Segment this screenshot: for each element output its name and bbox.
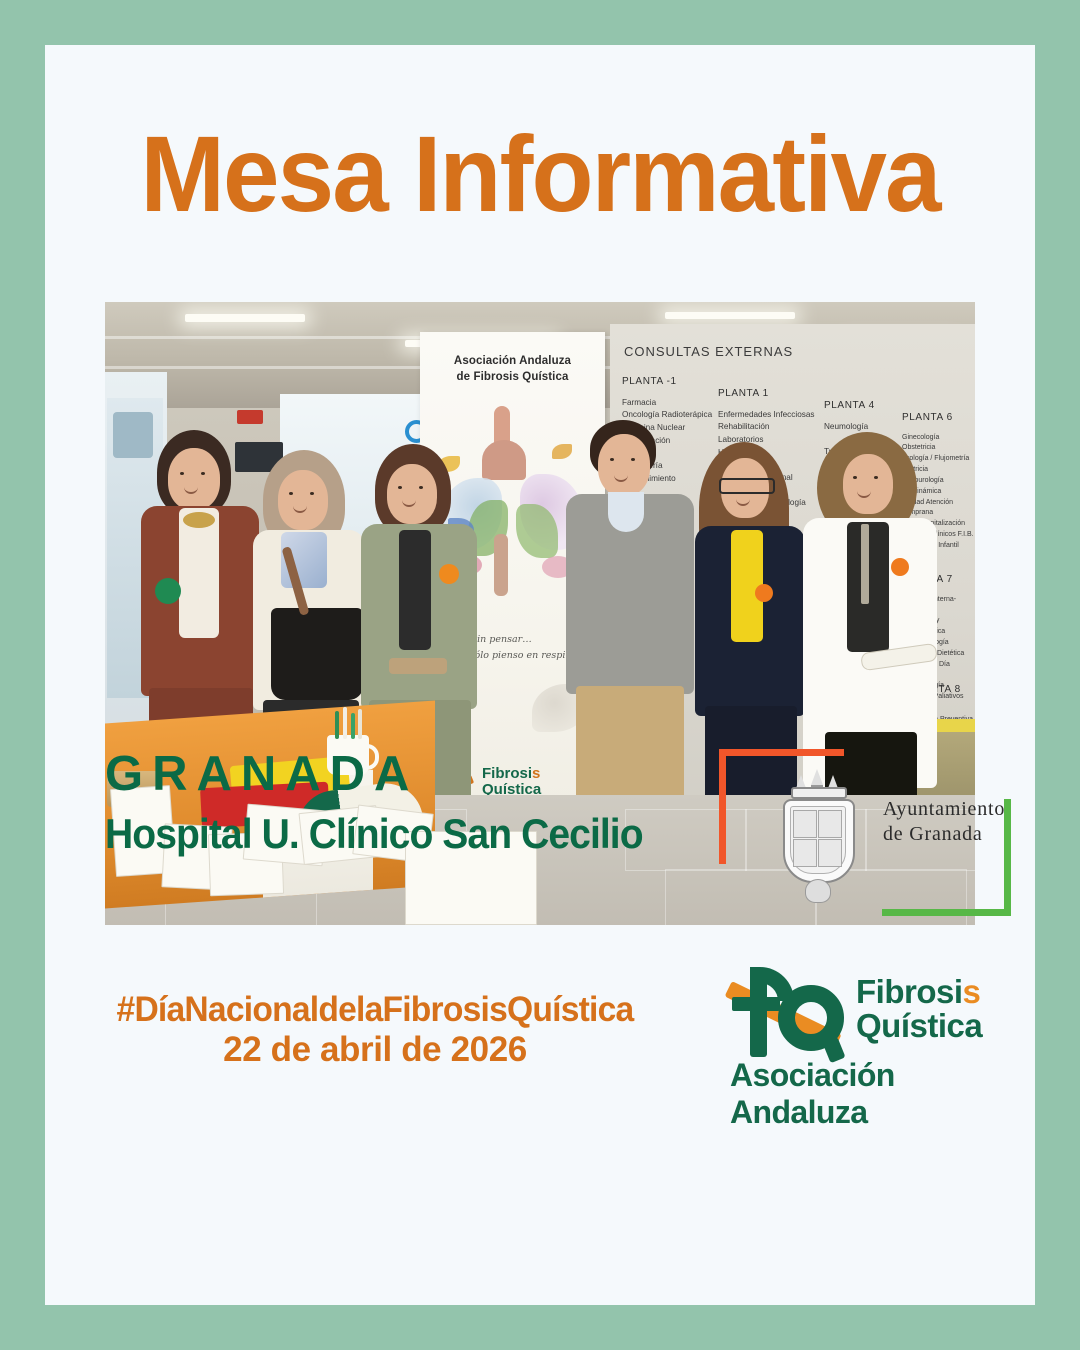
fq-wordmark: Fibrosis Quística (856, 975, 982, 1042)
ceiling-light-1 (185, 314, 305, 322)
granada-coat-of-arms-icon (775, 761, 861, 901)
shirt-collar (608, 492, 644, 532)
head (387, 464, 437, 524)
ceiling-light-3 (665, 312, 795, 319)
head (843, 454, 893, 514)
fibrosis-quistica-logo: Fibrosis Quística Asociación Andaluza (730, 965, 1020, 1100)
city-name: GRANADA (105, 750, 418, 799)
directory-heading: CONSULTAS EXTERNAS (624, 344, 793, 359)
head (168, 448, 220, 510)
lanyard (861, 524, 869, 604)
inner-top (399, 530, 431, 650)
ayuntamiento-wordmark: Ayuntamiento de Granada (883, 797, 1005, 847)
head (278, 470, 328, 530)
ayuntamiento-granada-logo: Ayuntamiento de Granada (715, 745, 1015, 920)
belt (389, 658, 447, 674)
crown-icon (791, 769, 843, 799)
ayuntamiento-line-2: de Granada (883, 822, 1005, 847)
campaign-hashtag: #DíaNacionaldelaFibrosisQuística (77, 990, 672, 1029)
exit-sign (237, 410, 263, 424)
poster-inner-panel: Mesa Informativa ILUNION (45, 45, 1035, 1305)
orange-brooch (439, 564, 459, 584)
banner-title: Asociación Andaluza de Fibrosis Quística (420, 354, 605, 385)
fq-letter-f-bar (732, 997, 780, 1011)
page-title: Mesa Informativa (75, 120, 1006, 228)
venue-name: Hospital U. Clínico San Cecilio (105, 812, 643, 856)
eyeglasses (719, 478, 775, 494)
poster-canvas: Mesa Informativa ILUNION (0, 0, 1080, 1350)
event-date: 22 de abril de 2026 (65, 1030, 685, 1069)
fq-monogram-icon (730, 965, 850, 1065)
necklace (183, 512, 215, 528)
head (598, 434, 650, 496)
fq-association-line: Asociación Andaluza (730, 1057, 1020, 1131)
ayuntamiento-line-1: Ayuntamiento (883, 797, 1005, 822)
pomegranate-icon (805, 879, 831, 903)
orange-brooch (891, 558, 909, 576)
shoulder-bag (271, 608, 363, 700)
banner-logo-wordmark: Fibrosis Quística (482, 766, 541, 798)
orange-brooch (755, 584, 773, 602)
green-brooch (155, 578, 181, 604)
